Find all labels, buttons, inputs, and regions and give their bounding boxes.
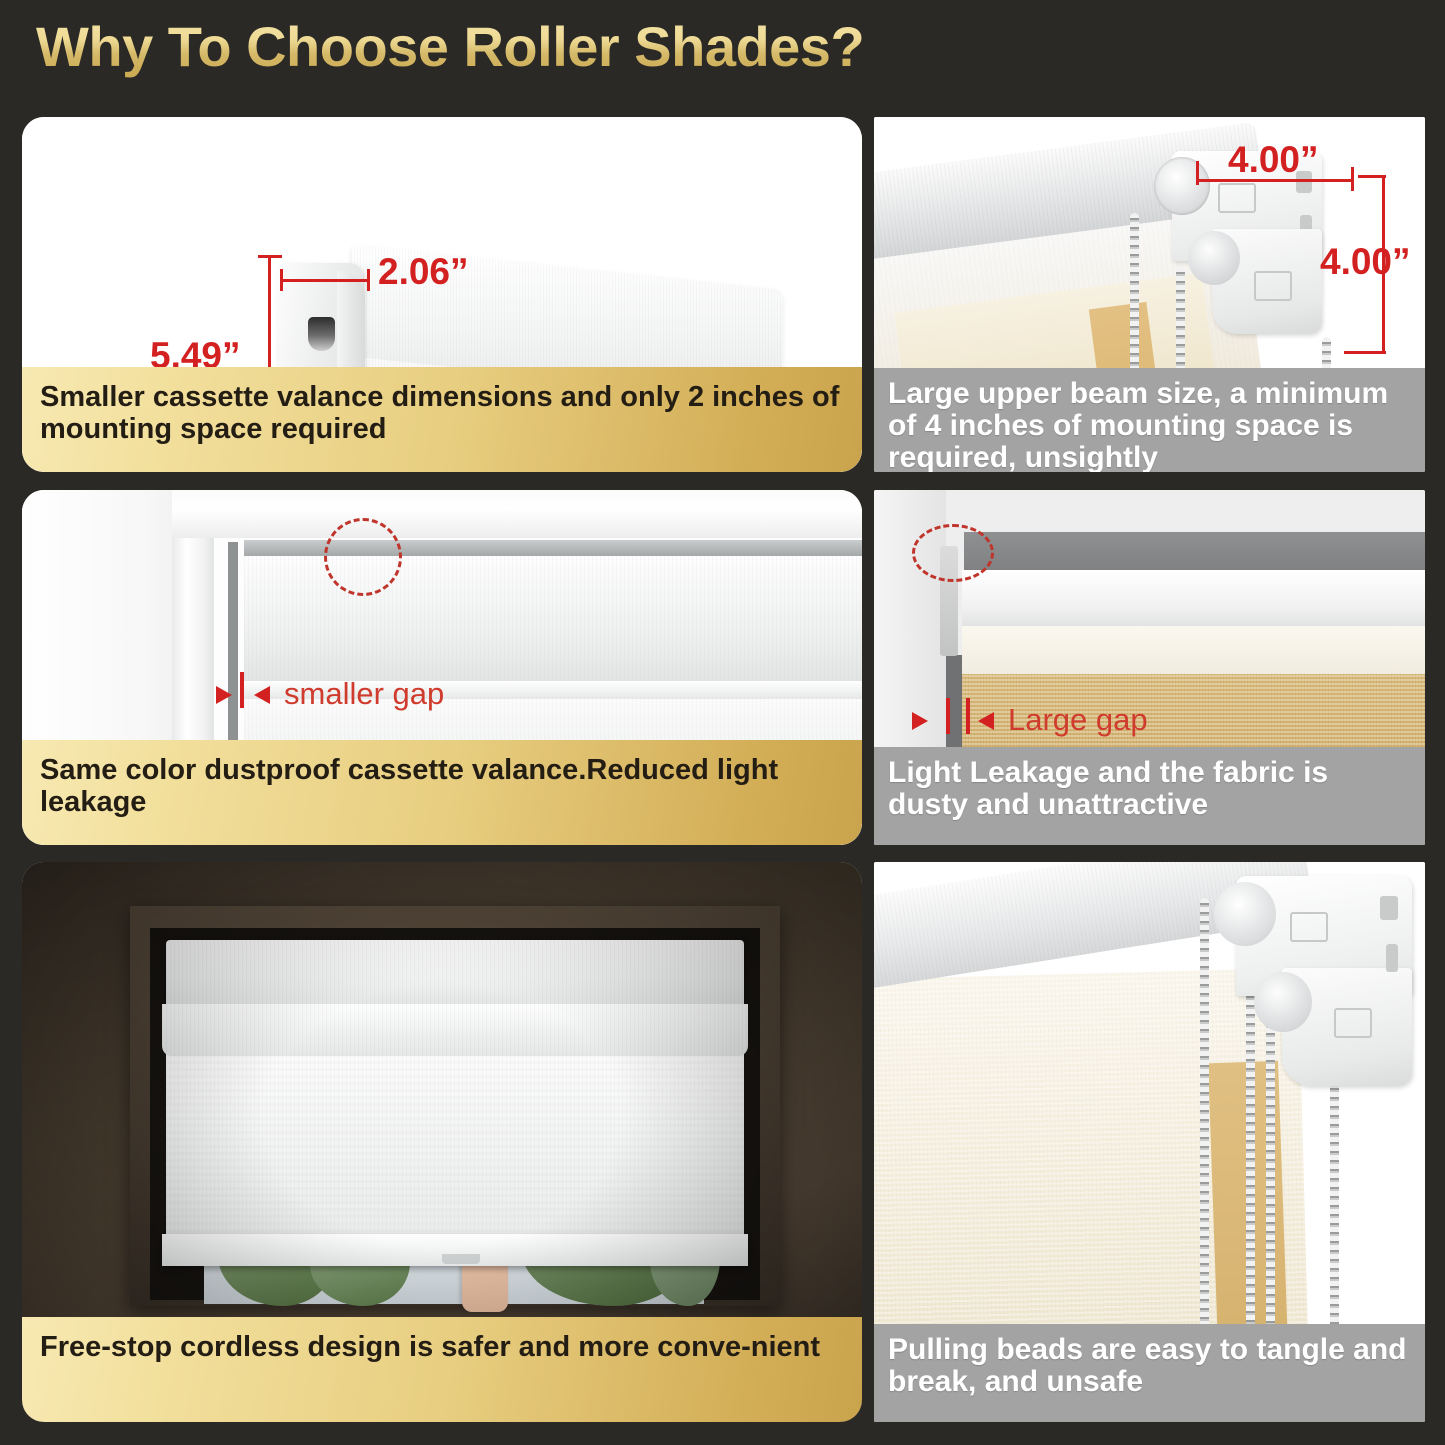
dimension-label-width: 2.06” xyxy=(378,251,469,293)
valance-slot xyxy=(308,317,335,351)
bracket-emblem-lower xyxy=(1254,271,1292,301)
beam-width-tick-left xyxy=(1196,161,1199,185)
height-dim-tick-top xyxy=(258,255,282,258)
caption-smaller-gap-dustproof-valance: Same color dustproof cassette valance.Re… xyxy=(22,740,862,845)
width-dim-tick-right xyxy=(367,269,370,291)
bead-bracket-notch-a xyxy=(1380,896,1398,920)
beam-height-tick-bottom xyxy=(1344,351,1386,354)
window-frame-top xyxy=(172,490,862,538)
gap-bar xyxy=(228,542,238,740)
bead-chain-4 xyxy=(1330,1074,1339,1336)
bracket-disc-lower xyxy=(1188,231,1240,285)
width-dim-line xyxy=(280,279,370,282)
beam-dimension-label-height: 4.00” xyxy=(1320,241,1411,283)
panel-cordless-free-stop-design: Free-stop cordless design is safer and m… xyxy=(22,862,862,1422)
gap-arrow-left xyxy=(216,686,232,704)
caption-large-upper-beam: Large upper beam size, a minimum of 4 in… xyxy=(874,368,1425,472)
bead-bracket-notch-b xyxy=(1386,944,1398,972)
bead-mounting-bracket xyxy=(1214,872,1424,1092)
caption-large-gap-light-leakage: Light Leakage and the fabric is dusty an… xyxy=(874,747,1425,845)
caption-cordless-free-stop-design: Free-stop cordless design is safer and m… xyxy=(22,1317,862,1422)
panel-cassette-valance-dimensions: 5.49” 2.06” Smaller cassette valance dim… xyxy=(22,117,862,472)
valance-white-top xyxy=(962,570,1425,632)
bead-bracket-disc-upper xyxy=(1214,882,1276,946)
beam-dimension-label-width: 4.00” xyxy=(1228,139,1319,181)
bead-bracket-emblem-lower xyxy=(1334,1008,1372,1038)
large-gap-arrow-right xyxy=(978,712,994,730)
large-gap-marker-left xyxy=(946,698,950,734)
gap-label-smaller: smaller gap xyxy=(284,676,444,712)
gap-marker-line xyxy=(240,672,244,708)
large-gap-marker-right xyxy=(966,698,970,734)
width-dim-tick-left xyxy=(280,269,283,291)
bead-bracket-disc-lower xyxy=(1254,972,1312,1032)
panel-large-upper-beam: 4.00” 4.00” Large upper beam size, a min… xyxy=(874,117,1425,472)
valance-cream-band xyxy=(962,626,1425,674)
gap-arrow-right xyxy=(254,686,270,704)
bead-chain-1 xyxy=(1200,898,1209,1338)
large-gap-arrow-left xyxy=(912,712,928,730)
highlight-circle-smaller-gap xyxy=(324,518,402,596)
bracket-emblem-upper xyxy=(1218,183,1256,213)
panel-large-gap-light-leakage: Large gap Light Leakage and the fabric i… xyxy=(874,490,1425,845)
page-title: Why To Choose Roller Shades? xyxy=(36,14,864,79)
caption-pulling-beads-hazard: Pulling beads are easy to tangle and bre… xyxy=(874,1324,1425,1422)
bead-chain-left xyxy=(1130,213,1139,383)
bracket-disc-upper xyxy=(1154,157,1210,215)
highlight-circle-large-gap xyxy=(912,524,994,582)
panel-pulling-beads-hazard: Pulling beads are easy to tangle and bre… xyxy=(874,862,1425,1422)
bead-bracket-emblem-upper xyxy=(1290,912,1328,942)
gap-label-large: Large gap xyxy=(1008,702,1148,738)
panel-smaller-gap-dustproof-valance: smaller gap Same color dustproof cassett… xyxy=(22,490,862,845)
caption-cassette-valance-dimensions: Smaller cassette valance dimensions and … xyxy=(22,367,862,472)
infographic-root: Why To Choose Roller Shades? 5.49” 2.06”… xyxy=(0,0,1445,1445)
beam-height-tick-top xyxy=(1358,175,1386,178)
beam-width-tick-right xyxy=(1351,167,1354,191)
